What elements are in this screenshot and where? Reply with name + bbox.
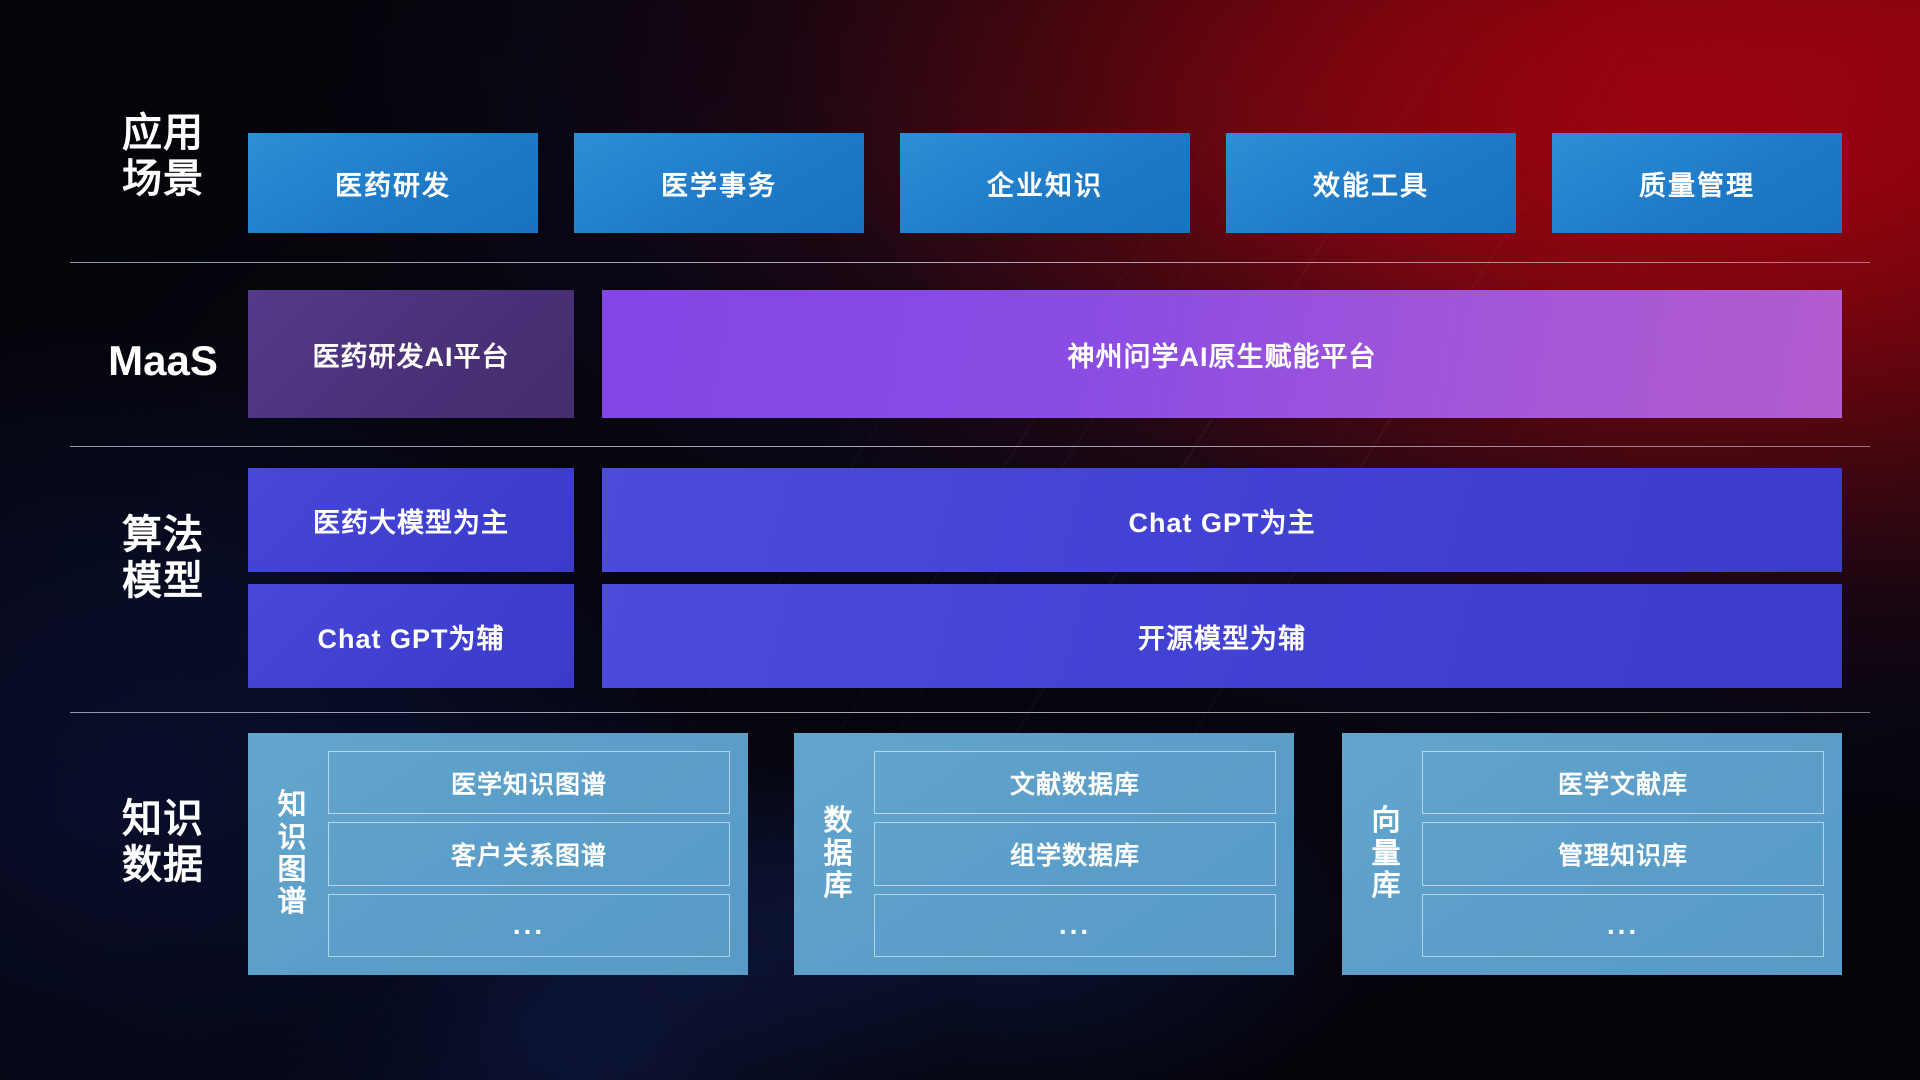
app-box-enterprise-knowledge[interactable]: 企业知识 — [900, 133, 1190, 233]
knowledge-item-more[interactable]: ... — [874, 894, 1276, 957]
knowledge-item[interactable]: 医学文献库 — [1422, 751, 1824, 814]
row-label-line: 算法 — [88, 512, 238, 558]
row-label-line: 场景 — [88, 156, 238, 202]
knowledge-item[interactable]: 客户关系图谱 — [328, 822, 730, 885]
row-label-application-scenarios: 应用 场景 — [88, 110, 238, 203]
divider-2 — [70, 446, 1870, 447]
maas-box-shenzhou-wenxue-platform[interactable]: 神州问学AI原生赋能平台 — [602, 290, 1842, 418]
knowledge-item[interactable]: 医学知识图谱 — [328, 751, 730, 814]
divider-1 — [70, 262, 1870, 263]
app-box-label: 医学事务 — [661, 164, 777, 203]
app-box-label: 质量管理 — [1639, 164, 1755, 203]
algo-box-opensource-secondary[interactable]: 开源模型为辅 — [602, 584, 1842, 688]
app-box-drug-rd[interactable]: 医药研发 — [248, 133, 538, 233]
knowledge-card-vertical-label: 向量库 — [1364, 805, 1408, 902]
app-box-label: 企业知识 — [987, 164, 1103, 203]
algo-box-label: 开源模型为辅 — [1138, 617, 1306, 656]
maas-box-label: 医药研发AI平台 — [313, 335, 510, 374]
app-box-label: 效能工具 — [1313, 164, 1429, 203]
app-box-efficiency-tools[interactable]: 效能工具 — [1226, 133, 1516, 233]
knowledge-card-items: 文献数据库 组学数据库 ... — [874, 747, 1276, 961]
architecture-diagram: 应用 场景 医药研发 医学事务 企业知识 效能工具 质量管理 MaaS 医药研发… — [0, 0, 1920, 1080]
algo-box-chatgpt-primary[interactable]: Chat GPT为主 — [602, 468, 1842, 572]
knowledge-item[interactable]: 组学数据库 — [874, 822, 1276, 885]
row-label-line: 模型 — [88, 558, 238, 604]
row-label-line: 知识 — [88, 796, 238, 842]
row-label-line: 数据 — [88, 842, 238, 888]
row-label-maas: MaaS — [88, 337, 238, 386]
knowledge-card-vertical-label: 数据库 — [816, 805, 860, 902]
algo-box-label: Chat GPT为主 — [1128, 501, 1315, 540]
algo-box-drug-large-model-primary[interactable]: 医药大模型为主 — [248, 468, 574, 572]
knowledge-item[interactable]: 管理知识库 — [1422, 822, 1824, 885]
row-label-knowledge-data: 知识 数据 — [88, 796, 238, 889]
knowledge-item-more[interactable]: ... — [1422, 894, 1824, 957]
knowledge-card-vector-db[interactable]: 向量库 医学文献库 管理知识库 ... — [1342, 733, 1842, 975]
knowledge-card-database[interactable]: 数据库 文献数据库 组学数据库 ... — [794, 733, 1294, 975]
maas-box-drug-rd-ai-platform[interactable]: 医药研发AI平台 — [248, 290, 574, 418]
knowledge-item-more[interactable]: ... — [328, 894, 730, 957]
algo-box-label: 医药大模型为主 — [313, 501, 509, 540]
divider-3 — [70, 712, 1870, 713]
row-label-line: 应用 — [88, 110, 238, 156]
app-box-quality-management[interactable]: 质量管理 — [1552, 133, 1842, 233]
row-label-algorithm-model: 算法 模型 — [88, 512, 238, 605]
row-label-line: MaaS — [88, 337, 238, 386]
knowledge-card-items: 医学知识图谱 客户关系图谱 ... — [328, 747, 730, 961]
algo-box-label: Chat GPT为辅 — [317, 617, 504, 656]
knowledge-card-vertical-label: 知识图谱 — [270, 789, 314, 919]
knowledge-card-items: 医学文献库 管理知识库 ... — [1422, 747, 1824, 961]
algo-box-chatgpt-secondary[interactable]: Chat GPT为辅 — [248, 584, 574, 688]
knowledge-card-knowledge-graph[interactable]: 知识图谱 医学知识图谱 客户关系图谱 ... — [248, 733, 748, 975]
app-box-medical-affairs[interactable]: 医学事务 — [574, 133, 864, 233]
maas-box-label: 神州问学AI原生赋能平台 — [1068, 335, 1377, 374]
app-box-label: 医药研发 — [335, 164, 451, 203]
knowledge-item[interactable]: 文献数据库 — [874, 751, 1276, 814]
